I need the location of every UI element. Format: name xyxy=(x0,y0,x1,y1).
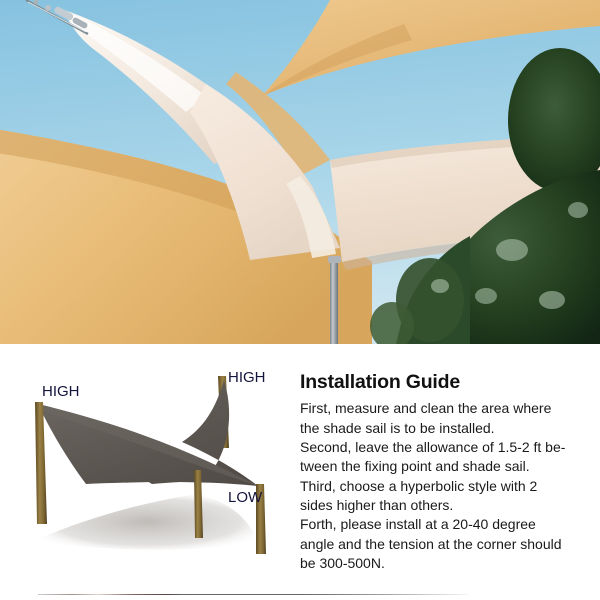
guide-line-4: tween the fixing point and shade sail. xyxy=(300,457,596,476)
info-panel: HIGH HIGH LOW Installation Guide First, … xyxy=(0,344,600,600)
guide-line-5: Third, choose a hyperbolic style with 2 xyxy=(300,477,596,496)
guide-line-8: angle and the tension at the corner shou… xyxy=(300,535,596,554)
guide-line-3: Second, leave the allowance of 1.5-2 ft … xyxy=(300,438,596,457)
guide-body: First, measure and clean the area where … xyxy=(300,399,596,573)
hero-photo-artwork xyxy=(0,0,600,344)
installation-diagram-artwork: HIGH HIGH LOW xyxy=(0,362,300,582)
label-high-left: HIGH xyxy=(42,383,80,400)
guide-line-6: sides higher than others. xyxy=(300,496,596,515)
guide-line-1: First, measure and clean the area where xyxy=(300,399,596,418)
guide-line-7: Forth, please install at a 20-40 degree xyxy=(300,515,596,534)
product-listing-image: HIGH HIGH LOW Installation Guide First, … xyxy=(0,0,600,600)
label-high-right: HIGH xyxy=(228,369,266,386)
guide-line-2: the shade sail is to be installed. xyxy=(300,419,596,438)
installation-guide: Installation Guide First, measure and cl… xyxy=(300,372,596,573)
support-pole xyxy=(330,256,338,344)
label-low-right: LOW xyxy=(228,489,263,506)
guide-line-9: be 300-500N. xyxy=(300,554,596,573)
bottom-divider xyxy=(38,594,468,595)
installation-diagram: HIGH HIGH LOW xyxy=(0,362,300,582)
hero-photo xyxy=(0,0,600,344)
pole-cap xyxy=(328,256,341,263)
page-title: Installation Guide xyxy=(300,372,596,393)
